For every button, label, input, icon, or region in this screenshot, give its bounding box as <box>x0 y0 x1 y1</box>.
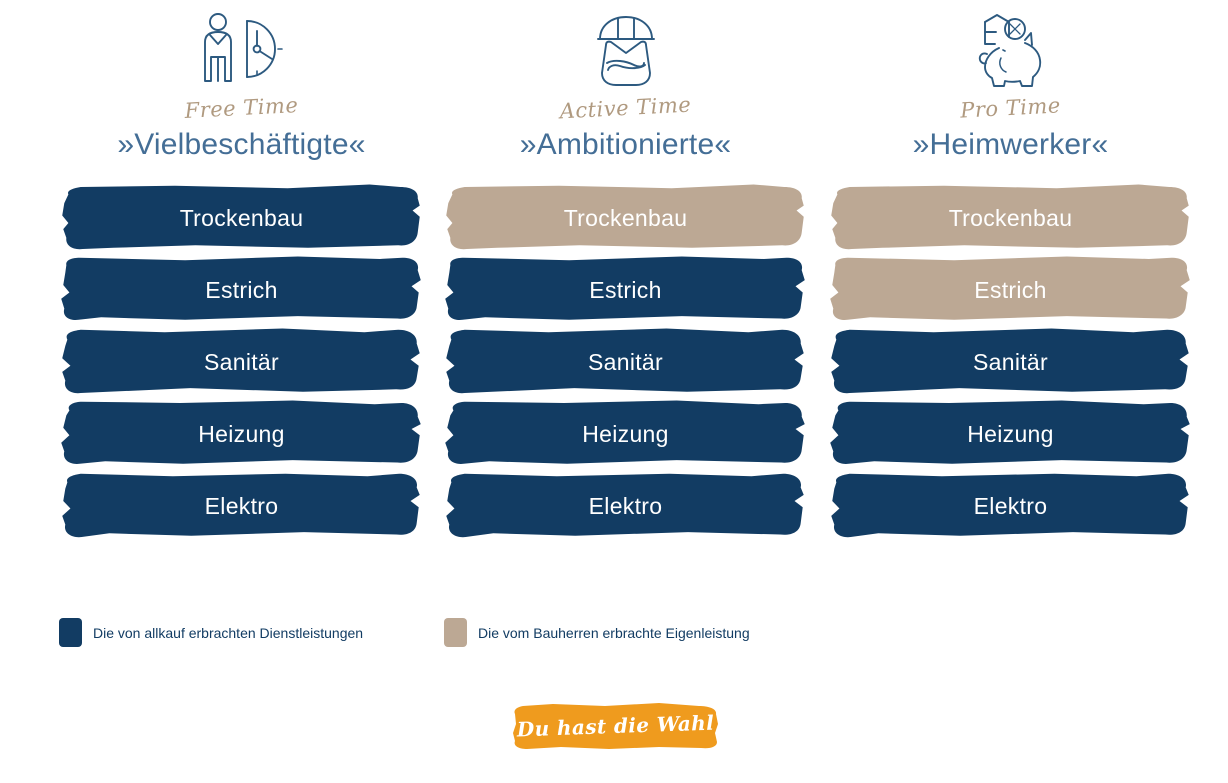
package-columns: Free Time»Vielbeschäftigte«TrockenbauEst… <box>0 0 1228 580</box>
column-title: »Heimwerker« <box>821 128 1200 161</box>
column-header: Active Time»Ambitionierte« <box>436 0 815 182</box>
bar-brush-shape <box>821 470 1200 542</box>
trade-bar[interactable]: Trockenbau <box>436 182 815 254</box>
trade-bar[interactable]: Trockenbau <box>52 182 431 254</box>
trade-bar[interactable]: Trockenbau <box>821 182 1200 254</box>
trade-bar-list: TrockenbauEstrichSanitärHeizungElektro <box>436 182 815 542</box>
bar-brush-shape <box>821 254 1200 326</box>
worker-helmet-icon <box>436 0 815 96</box>
bar-brush-shape <box>52 254 431 326</box>
person-clock-icon <box>52 0 431 96</box>
trade-bar[interactable]: Estrich <box>821 254 1200 326</box>
piggy-bank-icon <box>821 0 1200 96</box>
legend-swatch <box>59 618 82 647</box>
trade-bar[interactable]: Elektro <box>821 470 1200 542</box>
trade-bar[interactable]: Sanitär <box>436 326 815 398</box>
bar-brush-shape <box>821 326 1200 398</box>
du-hast-die-wahl-badge: Du hast die Wahl <box>509 700 722 752</box>
comparison-board: Free Time»Vielbeschäftigte«TrockenbauEst… <box>0 0 1228 783</box>
bar-brush-shape <box>821 182 1200 254</box>
trade-bar[interactable]: Estrich <box>52 254 431 326</box>
trade-bar[interactable]: Estrich <box>436 254 815 326</box>
legend-label: Die von allkauf erbrachten Dienstleistun… <box>93 625 363 641</box>
legend-swatch <box>444 618 467 647</box>
legend-label: Die vom Bauherren erbrachte Eigenleistun… <box>478 625 750 641</box>
trade-bar[interactable]: Elektro <box>52 470 431 542</box>
column-title: »Ambitionierte« <box>436 128 815 161</box>
bar-brush-shape <box>436 182 815 254</box>
bar-brush-shape <box>52 182 431 254</box>
bar-brush-shape <box>436 398 815 470</box>
bar-brush-shape <box>52 470 431 542</box>
legend-item: Die von allkauf erbrachten Dienstleistun… <box>59 618 363 647</box>
legend: Die von allkauf erbrachten Dienstleistun… <box>0 618 1228 658</box>
trade-bar[interactable]: Heizung <box>52 398 431 470</box>
trade-bar-list: TrockenbauEstrichSanitärHeizungElektro <box>821 182 1200 542</box>
package-column-2: Active Time»Ambitionierte«TrockenbauEstr… <box>436 0 815 580</box>
package-column-1: Free Time»Vielbeschäftigte«TrockenbauEst… <box>52 0 431 580</box>
trade-bar[interactable]: Sanitär <box>52 326 431 398</box>
legend-item: Die vom Bauherren erbrachte Eigenleistun… <box>444 618 750 647</box>
column-header: Free Time»Vielbeschäftigte« <box>52 0 431 182</box>
trade-bar-list: TrockenbauEstrichSanitärHeizungElektro <box>52 182 431 542</box>
bar-brush-shape <box>821 398 1200 470</box>
column-header: Pro Time»Heimwerker« <box>821 0 1200 182</box>
trade-bar[interactable]: Heizung <box>436 398 815 470</box>
package-column-3: Pro Time»Heimwerker«TrockenbauEstrichSan… <box>821 0 1200 580</box>
bar-brush-shape <box>436 254 815 326</box>
bar-brush-shape <box>52 326 431 398</box>
column-title: »Vielbeschäftigte« <box>52 128 431 161</box>
bar-brush-shape <box>436 470 815 542</box>
badge-brush-shape <box>509 700 722 752</box>
bar-brush-shape <box>436 326 815 398</box>
bar-brush-shape <box>52 398 431 470</box>
trade-bar[interactable]: Heizung <box>821 398 1200 470</box>
trade-bar[interactable]: Sanitär <box>821 326 1200 398</box>
trade-bar[interactable]: Elektro <box>436 470 815 542</box>
